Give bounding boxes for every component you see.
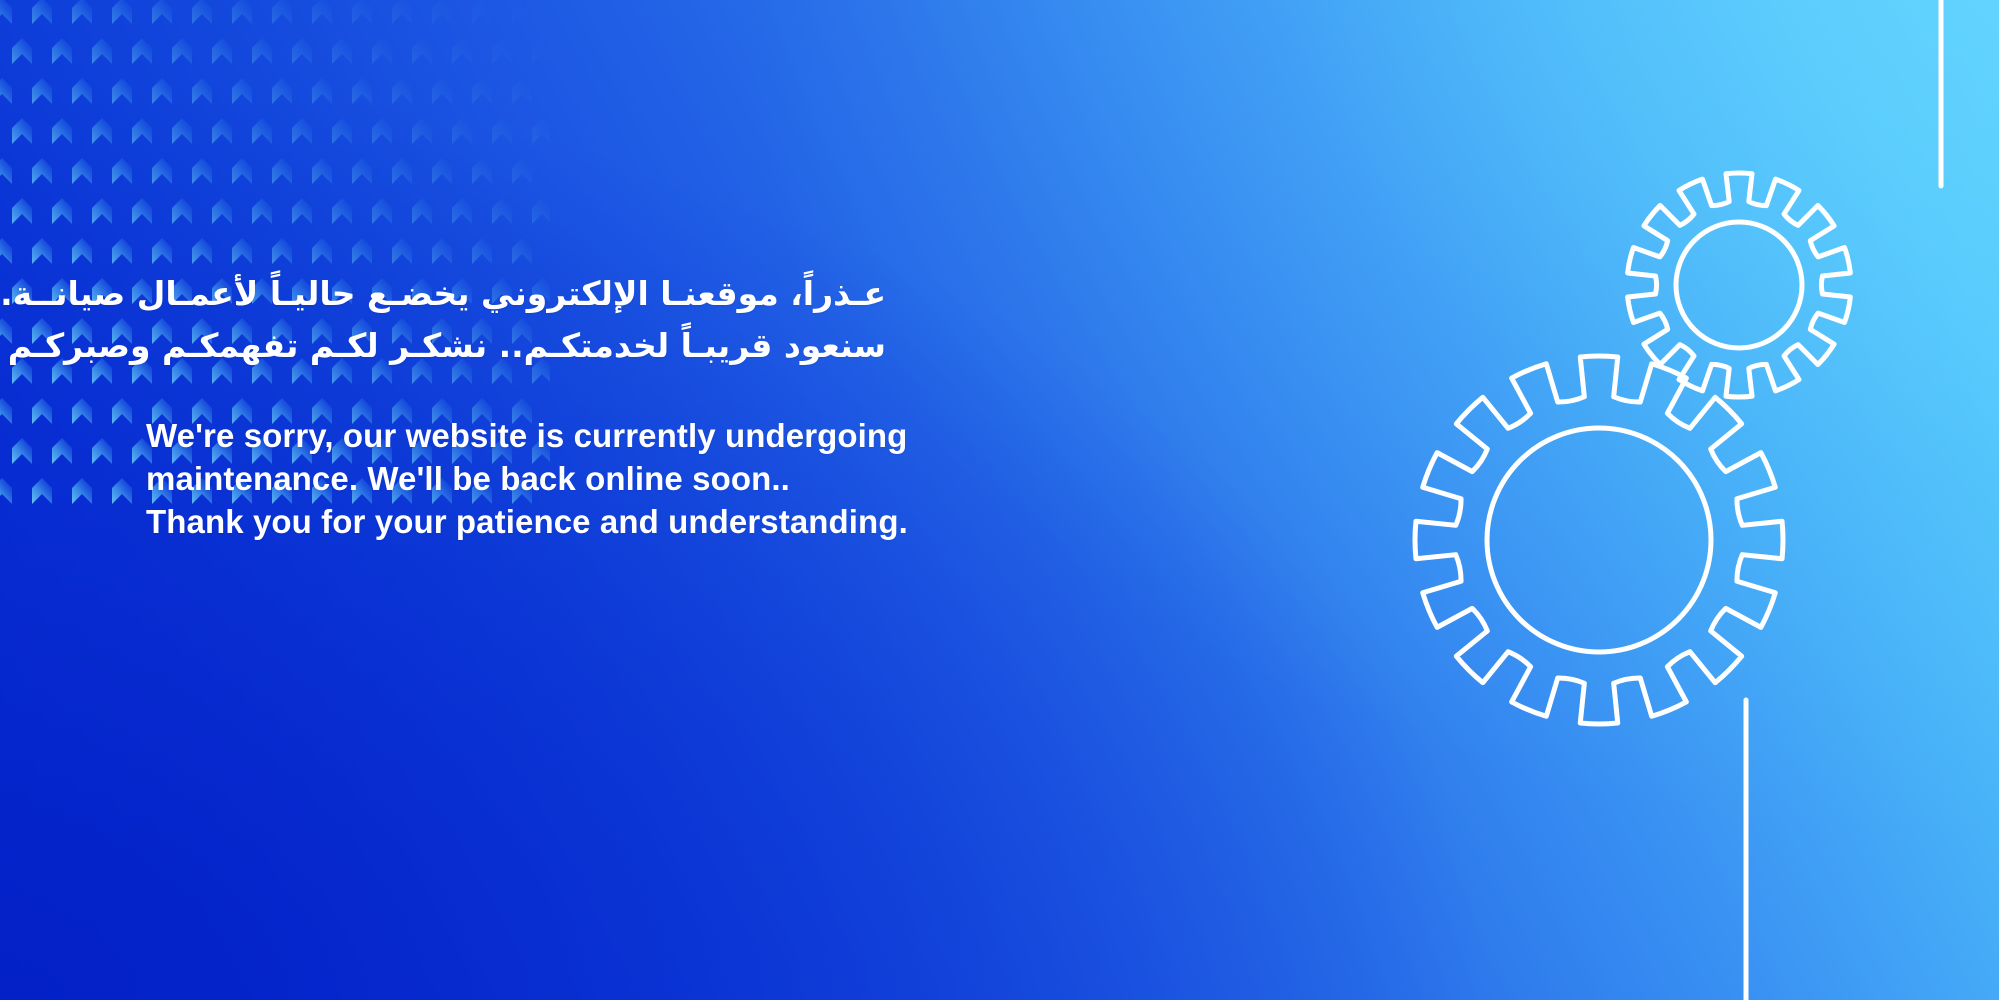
arabic-line-1: عـذراً، موقعنـا الإلكتروني يخضـع حاليـاً… <box>146 268 886 320</box>
arabic-message: عـذراً، موقعنـا الإلكتروني يخضـع حاليـاً… <box>146 268 886 372</box>
maintenance-message: عـذراً، موقعنـا الإلكتروني يخضـع حاليـاً… <box>146 268 986 543</box>
maintenance-page: عـذراً، موقعنـا الإلكتروني يخضـع حاليـاً… <box>0 0 1999 1000</box>
arabic-line-2: سنعود قريبـاً لخدمتكـم.. نشكـر لكـم تفهم… <box>146 320 886 372</box>
english-line-3: Thank you for your patience and understa… <box>146 500 986 543</box>
english-message: We're sorry, our website is currently un… <box>146 414 986 543</box>
english-line-1: We're sorry, our website is currently un… <box>146 414 986 457</box>
english-line-2: maintenance. We'll be back online soon.. <box>146 457 986 500</box>
